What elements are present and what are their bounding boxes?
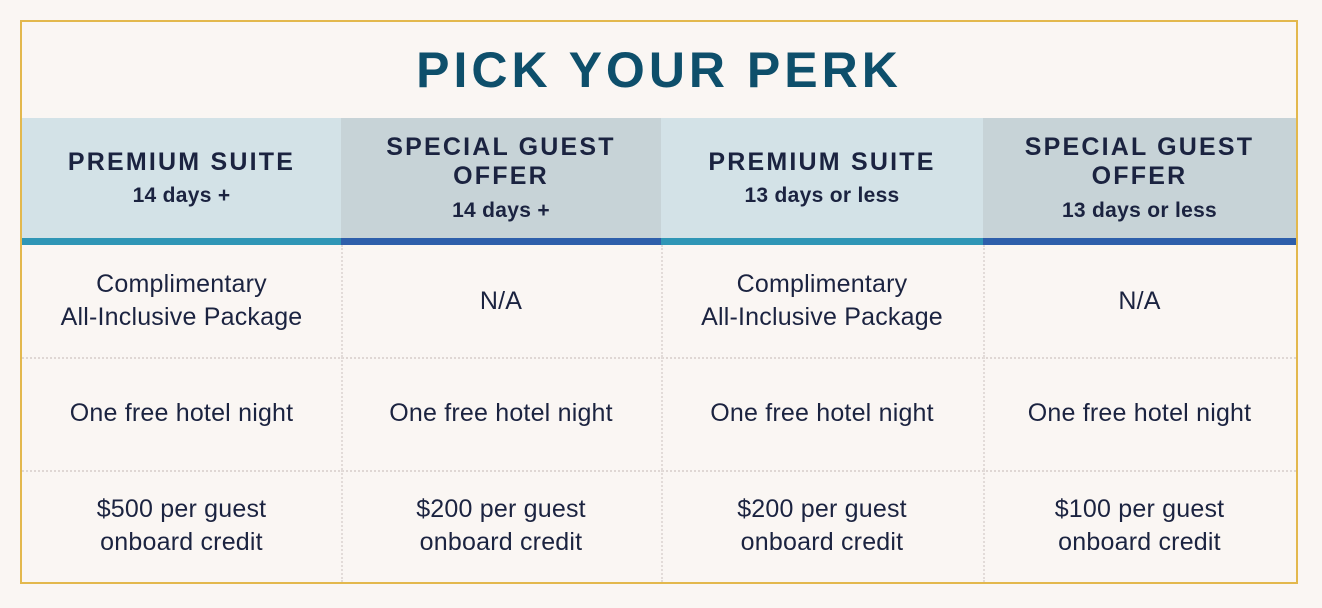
column-header-subtitle: 14 days +: [452, 198, 550, 223]
cell-line-1: $200 per guest: [737, 493, 907, 526]
cell-line-1: One free hotel night: [710, 397, 934, 430]
cell-text: $200 per guest onboard credit: [737, 493, 907, 559]
cell-line-1: N/A: [1118, 285, 1160, 318]
column-header-title: SPECIAL GUEST OFFER: [349, 133, 653, 192]
column-header-subtitle: 14 days +: [133, 183, 231, 208]
cell-line-2: onboard credit: [97, 526, 267, 559]
cell-line-1: Complimentary: [701, 268, 943, 301]
table-cell: $200 per guest onboard credit: [661, 470, 983, 582]
cell-line-2: onboard credit: [737, 526, 907, 559]
accent-bar-column-1: [22, 238, 341, 245]
table-cell: $500 per guest onboard credit: [22, 470, 341, 582]
table-cell: Complimentary All-Inclusive Package: [661, 245, 983, 357]
cell-line-1: N/A: [480, 285, 522, 318]
cell-text: $100 per guest onboard credit: [1055, 493, 1225, 559]
cell-line-1: One free hotel night: [1028, 397, 1252, 430]
table-cell: One free hotel night: [341, 357, 661, 469]
table-cell: One free hotel night: [983, 357, 1296, 469]
pick-your-perk-card: PICK YOUR PERK PREMIUM SUITE 14 days + S…: [20, 20, 1298, 584]
table-row: $500 per guest onboard credit $200 per g…: [22, 470, 1296, 582]
cell-text: One free hotel night: [1028, 397, 1252, 430]
cell-text: One free hotel night: [70, 397, 294, 430]
cell-line-2: All-Inclusive Package: [61, 301, 303, 334]
column-header-title: SPECIAL GUEST OFFER: [991, 133, 1288, 192]
cell-line-2: onboard credit: [1055, 526, 1225, 559]
table-cell: $100 per guest onboard credit: [983, 470, 1296, 582]
cell-text: Complimentary All-Inclusive Package: [701, 268, 943, 334]
table-cell: $200 per guest onboard credit: [341, 470, 661, 582]
cell-line-1: $200 per guest: [416, 493, 586, 526]
column-header-subtitle: 13 days or less: [1062, 198, 1217, 223]
accent-bar-column-3: [661, 238, 983, 245]
cell-text: One free hotel night: [389, 397, 613, 430]
column-header-special-guest-offer-14-days: SPECIAL GUEST OFFER 14 days +: [341, 118, 661, 238]
cell-text: $500 per guest onboard credit: [97, 493, 267, 559]
accent-bar-column-2: [341, 238, 661, 245]
column-header-subtitle: 13 days or less: [744, 183, 899, 208]
card-title-bar: PICK YOUR PERK: [22, 22, 1296, 118]
table-row: Complimentary All-Inclusive Package N/A …: [22, 245, 1296, 357]
table-row: One free hotel night One free hotel nigh…: [22, 357, 1296, 469]
cell-text: One free hotel night: [710, 397, 934, 430]
cell-text: N/A: [1118, 285, 1160, 318]
cell-line-1: One free hotel night: [70, 397, 294, 430]
table-cell: N/A: [341, 245, 661, 357]
page-title: PICK YOUR PERK: [416, 45, 902, 95]
table-cell: Complimentary All-Inclusive Package: [22, 245, 341, 357]
cell-text: N/A: [480, 285, 522, 318]
column-accent-bar-row: [22, 238, 1296, 245]
accent-bar-column-4: [983, 238, 1296, 245]
cell-text: Complimentary All-Inclusive Package: [61, 268, 303, 334]
column-header-title: PREMIUM SUITE: [68, 148, 295, 178]
column-header-title: PREMIUM SUITE: [708, 148, 935, 178]
cell-line-2: All-Inclusive Package: [701, 301, 943, 334]
table-cell: One free hotel night: [22, 357, 341, 469]
table-cell: N/A: [983, 245, 1296, 357]
column-header-premium-suite-14-days: PREMIUM SUITE 14 days +: [22, 118, 341, 238]
perk-table-body: Complimentary All-Inclusive Package N/A …: [22, 245, 1296, 582]
cell-line-2: onboard credit: [416, 526, 586, 559]
cell-line-1: $100 per guest: [1055, 493, 1225, 526]
table-cell: One free hotel night: [661, 357, 983, 469]
column-header-special-guest-offer-13-days: SPECIAL GUEST OFFER 13 days or less: [983, 118, 1296, 238]
cell-line-1: $500 per guest: [97, 493, 267, 526]
cell-line-1: One free hotel night: [389, 397, 613, 430]
column-header-row: PREMIUM SUITE 14 days + SPECIAL GUEST OF…: [22, 118, 1296, 238]
cell-text: $200 per guest onboard credit: [416, 493, 586, 559]
column-header-premium-suite-13-days: PREMIUM SUITE 13 days or less: [661, 118, 983, 238]
cell-line-1: Complimentary: [61, 268, 303, 301]
